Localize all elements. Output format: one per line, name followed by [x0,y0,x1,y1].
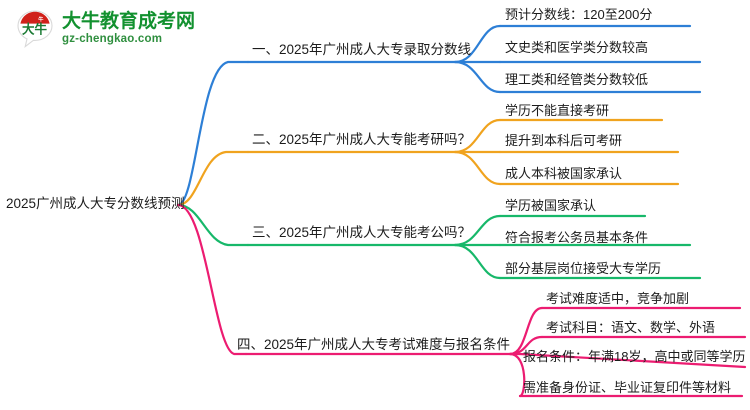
mindmap-leaf-node-4-1: 考试难度适中，竞争加剧 [546,292,689,306]
mindmap-leaf-node-4-4: 需准备身份证、毕业证复印件等材料 [523,381,731,395]
mindmap-leaf-node-2-2: 提升到本科后可考研 [505,134,622,148]
mindmap-root-node: 2025广州成人大专分数线预测 [6,197,185,212]
mindmap-leaf-node-2-1: 学历不能直接考研 [505,104,609,118]
mindmap-leaf-node-3-2: 符合报考公务员基本条件 [505,231,648,245]
mindmap-leaf-node-3-3: 部分基层岗位接受大专学历 [505,262,661,276]
mindmap-branch-node-3: 三、2025年广州成人大专能考公吗？ [252,226,471,241]
site-logo: 牛 大牛 大牛教育成考网 gz-chengkao.com [14,6,204,52]
mindmap-branch-node-4: 四、2025年广州成人大专考试难度与报名条件 [237,338,510,353]
svg-text:大牛: 大牛 [22,22,48,37]
mindmap-branch-node-1: 一、2025年广州成人大专录取分数线 [252,43,471,58]
mindmap-leaf-node-1-1: 预计分数线：120至200分 [505,8,652,22]
mindmap-leaf-node-2-3: 成人本科被国家承认 [505,167,622,181]
mindmap-leaf-node-4-2: 考试科目：语文、数学、外语 [546,321,715,335]
mindmap-branch-node-2: 二、2025年广州成人大专能考研吗？ [252,133,471,148]
mindmap-leaf-node-3-1: 学历被国家承认 [505,199,596,213]
mindmap-leaf-node-1-3: 理工类和经管类分数较低 [505,73,648,87]
mindmap-leaf-node-4-3: 报名条件：年满18岁，高中或同等学历 [523,350,745,364]
logo-mark-icon: 牛 大牛 [14,8,56,50]
logo-domain: gz-chengkao.com [62,34,195,46]
logo-title: 大牛教育成考网 [62,12,195,31]
mindmap-leaf-node-1-2: 文史类和医学类分数较高 [505,41,648,55]
